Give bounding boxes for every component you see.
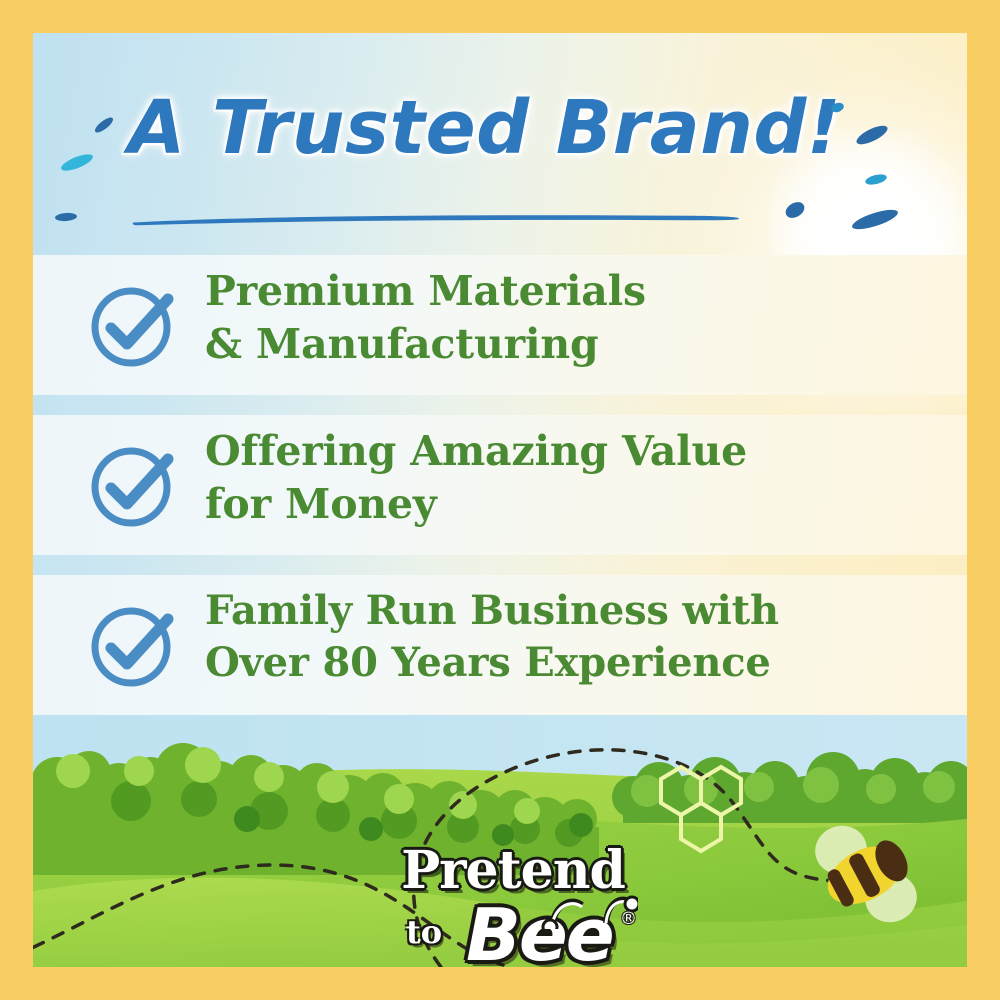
sparkle-icon [55, 212, 78, 222]
page-title: A Trusted Brand! [128, 85, 841, 171]
bullet-line-1: Premium Materials [205, 267, 646, 315]
check-circle-icon [85, 277, 181, 373]
landscape-scene [33, 715, 967, 967]
landscape-illustration [33, 715, 967, 967]
bullet-row: Family Run Business with Over 80 Years E… [33, 575, 967, 715]
sparkle-icon [783, 199, 807, 221]
bullet-line-2: Over 80 Years Experience [205, 637, 935, 689]
promo-card: A Trusted Brand! [0, 0, 1000, 1000]
card-inner-stage: A Trusted Brand! [33, 33, 967, 967]
bullet-row: Offering Amazing Value for Money [33, 415, 967, 555]
sparkle-icon [850, 206, 900, 233]
sparkle-icon [93, 115, 115, 135]
bullet-line-1: Offering Amazing Value [205, 427, 747, 475]
sparkle-icon [59, 151, 95, 174]
sparkle-icon [864, 172, 888, 186]
bullet-row: Premium Materials & Manufacturing [33, 255, 967, 395]
check-circle-icon [85, 597, 181, 693]
headline-area: A Trusted Brand! [33, 85, 967, 245]
bullet-line-1: Family Run Business with [205, 587, 779, 634]
headline-underline-swoosh [131, 213, 741, 226]
check-circle-icon [85, 437, 181, 533]
bullet-text: Offering Amazing Value for Money [205, 425, 935, 532]
bullet-line-2: for Money [205, 478, 935, 531]
bullet-text: Premium Materials & Manufacturing [205, 265, 935, 372]
sparkle-icon [854, 122, 890, 148]
bullet-line-2: & Manufacturing [205, 318, 935, 371]
bullet-text: Family Run Business with Over 80 Years E… [205, 585, 935, 689]
